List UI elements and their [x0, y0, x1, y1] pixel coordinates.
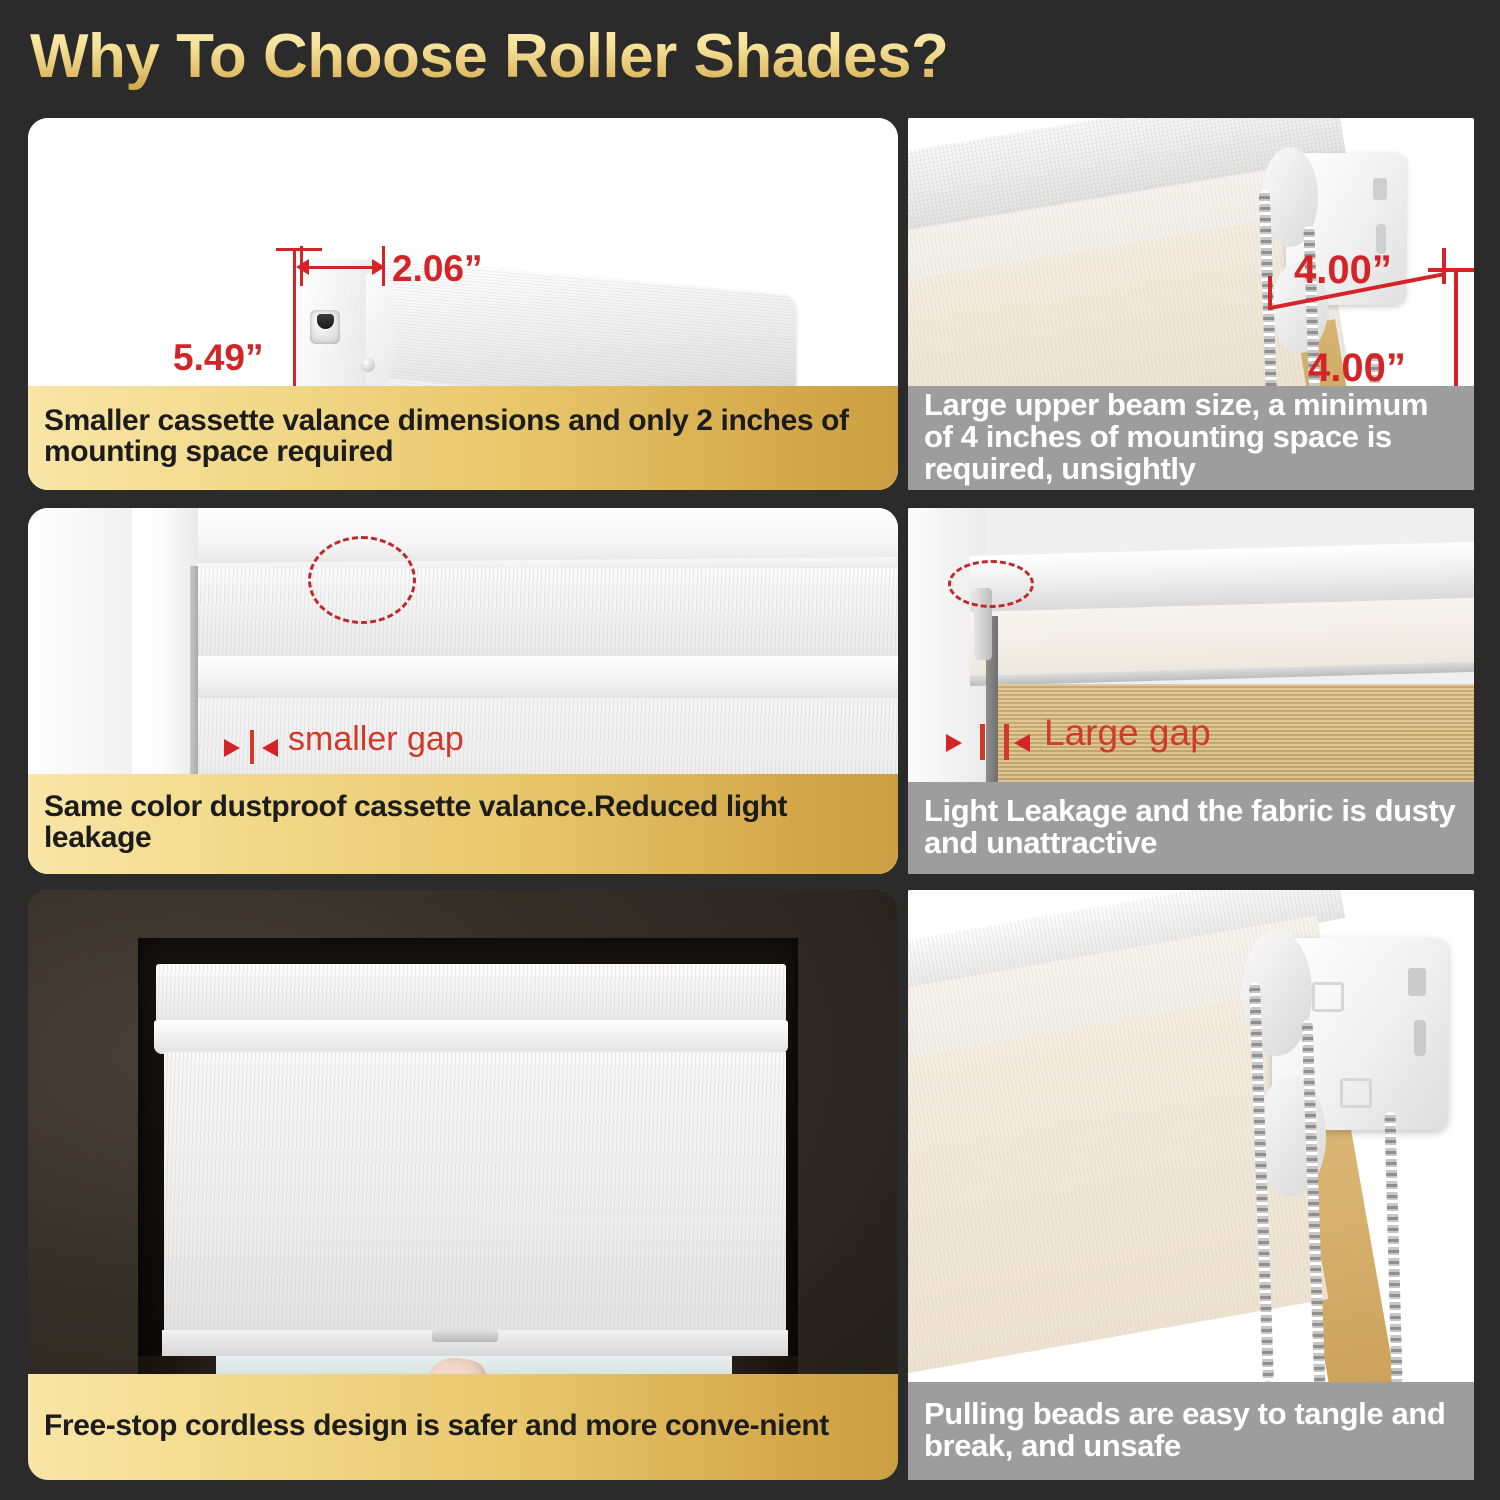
- gap-annotation-label: smaller gap: [288, 720, 464, 759]
- dim-arrow-width-left: [296, 259, 309, 275]
- gap-marker-bar: [250, 730, 254, 764]
- panel-large-upper-beam: 4.00” 4.00” Large upper beam size, a min…: [908, 118, 1474, 490]
- dim-tick-beam-width-right: [1442, 248, 1446, 284]
- gap-annotation-label: Large gap: [1044, 712, 1211, 754]
- panel-5-caption-text: Free-stop cordless design is safer and m…: [44, 1411, 882, 1442]
- dimension-label-beam-height: 4.00”: [1308, 346, 1406, 391]
- panel-6-caption-bar: Pulling beads are easy to tangle and bre…: [908, 1382, 1474, 1480]
- bracket-emblem-upper-icon: [1312, 982, 1344, 1012]
- panel-5-caption-bar: Free-stop cordless design is safer and m…: [28, 1374, 898, 1480]
- bracket-slot-lower-icon: [1414, 1020, 1426, 1056]
- shade-upper-shape: [198, 568, 898, 656]
- highlight-circle-icon: [948, 560, 1034, 608]
- page-title: Why To Choose Roller Shades?: [30, 18, 1130, 96]
- gap-arrow-right: [1014, 734, 1030, 752]
- headrail-lip-shape: [154, 1020, 788, 1054]
- panel-4-caption-text: Light Leakage and the fabric is dusty an…: [924, 795, 1458, 859]
- panel-4-caption-bar: Light Leakage and the fabric is dusty an…: [908, 782, 1474, 874]
- cassette-headrail-shape: [156, 964, 786, 1022]
- bracket-slot-upper-icon: [1408, 968, 1426, 996]
- gap-marker-bar-right: [1004, 724, 1009, 760]
- bracket-emblem-lower-icon: [1340, 1078, 1372, 1108]
- panel-1-caption-bar: Smaller cassette valance dimensions and …: [28, 386, 898, 490]
- gap-arrow-right: [262, 739, 278, 757]
- panel-smaller-gap: smaller gap Same color dustproof cassett…: [28, 508, 898, 874]
- highlight-circle-icon: [308, 536, 416, 624]
- gap-marker-bar-left: [980, 724, 985, 760]
- dim-tick-beam-width-left: [1268, 276, 1272, 310]
- panel-cassette-dimensions: 2.06” 5.49” Smaller cassette valance dim…: [28, 118, 898, 490]
- shade-pull-handle-shape: [432, 1330, 498, 1342]
- bracket-screw-icon: [361, 358, 375, 372]
- panel-1-caption-text: Smaller cassette valance dimensions and …: [44, 406, 882, 468]
- panel-cordless-design: Free-stop cordless design is safer and m…: [28, 890, 898, 1480]
- bracket-clutch-icon: [310, 310, 340, 344]
- dim-arrow-width-right: [372, 259, 385, 275]
- shade-fabric-shape: [164, 1052, 786, 1332]
- gap-arrow-left: [946, 734, 962, 752]
- panel-3-caption-text: Same color dustproof cassette valance.Re…: [44, 792, 882, 854]
- dimension-label-beam-width: 4.00”: [1294, 248, 1392, 293]
- dimension-label-width: 2.06”: [392, 248, 483, 290]
- panel-2-caption-text: Large upper beam size, a minimum of 4 in…: [924, 389, 1458, 485]
- panel-6-caption-text: Pulling beads are easy to tangle and bre…: [924, 1398, 1458, 1462]
- gap-arrow-left: [224, 739, 240, 757]
- panel-large-gap: Large gap Light Leakage and the fabric i…: [908, 508, 1474, 874]
- bracket-slot-upper-icon: [1373, 178, 1387, 200]
- shade-band-shape: [198, 656, 898, 698]
- dim-tick-beam-height-top: [1428, 268, 1474, 272]
- panel-3-caption-bar: Same color dustproof cassette valance.Re…: [28, 774, 898, 874]
- dimension-label-height: 5.49”: [173, 337, 264, 379]
- panel-2-caption-bar: Large upper beam size, a minimum of 4 in…: [908, 386, 1474, 490]
- dim-tick-height-top: [276, 248, 322, 251]
- panel-pulling-beads: Pulling beads are easy to tangle and bre…: [908, 890, 1474, 1480]
